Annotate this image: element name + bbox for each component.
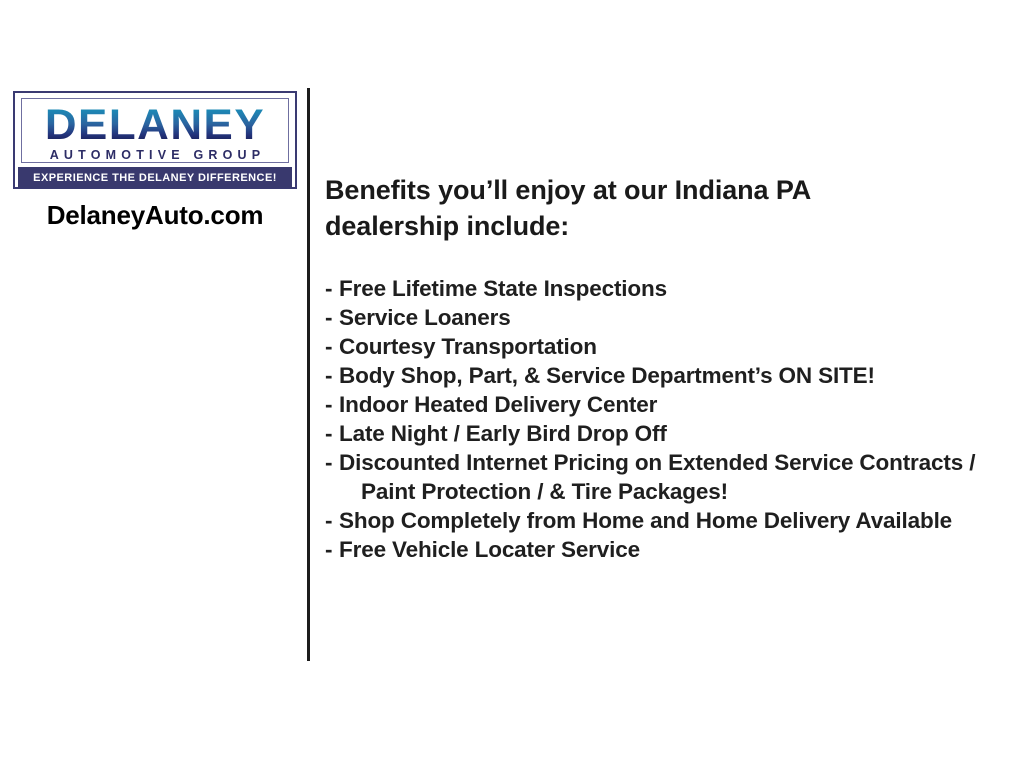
list-item-label: Body Shop, Part, & Service Department’s … (339, 363, 875, 388)
slide-canvas: DELANEY AUTOMOTIVE GROUP EXPERIENCE THE … (0, 0, 1024, 768)
list-item: -Free Lifetime State Inspections (325, 274, 1011, 303)
list-item-label: Free Lifetime State Inspections (339, 276, 667, 301)
logo-column: DELANEY AUTOMOTIVE GROUP EXPERIENCE THE … (0, 0, 307, 768)
vertical-divider (307, 88, 310, 661)
delaney-logo: DELANEY AUTOMOTIVE GROUP EXPERIENCE THE … (13, 91, 297, 189)
list-item: -Body Shop, Part, & Service Department’s… (325, 361, 1011, 390)
bullet-dash: - (325, 535, 339, 564)
logo-inner-frame: DELANEY AUTOMOTIVE GROUP (19, 96, 291, 165)
bullet-dash: - (325, 506, 339, 535)
list-item: -Indoor Heated Delivery Center (325, 390, 1011, 419)
bullet-dash: - (325, 303, 339, 332)
list-item: -Late Night / Early Bird Drop Off (325, 419, 1011, 448)
page-title: Benefits you’ll enjoy at our Indiana PA … (325, 172, 865, 244)
bullet-dash: - (325, 332, 339, 361)
bullet-dash: - (325, 419, 339, 448)
list-item-label: Free Vehicle Locater Service (339, 537, 640, 562)
list-item: -Shop Completely from Home and Home Deli… (325, 506, 1011, 535)
list-item: -Courtesy Transportation (325, 332, 1011, 361)
list-item: -Free Vehicle Locater Service (325, 535, 1011, 564)
content-column: Benefits you’ll enjoy at our Indiana PA … (325, 172, 1011, 564)
list-item: -Discounted Internet Pricing on Extended… (325, 448, 1011, 506)
benefits-list: -Free Lifetime State Inspections-Service… (325, 274, 1011, 564)
bullet-dash: - (325, 274, 339, 303)
list-item-label: Late Night / Early Bird Drop Off (339, 421, 667, 446)
list-item-label: Service Loaners (339, 305, 511, 330)
logo-tagline-banner: EXPERIENCE THE DELANEY DIFFERENCE! (18, 167, 292, 188)
logo-wordmark: DELANEY (45, 100, 265, 150)
website-url: DelaneyAuto.com (13, 199, 297, 231)
bullet-dash: - (325, 390, 339, 419)
list-item-continuation: Paint Protection / & Tire Packages! (339, 477, 1011, 506)
list-item-label: Discounted Internet Pricing on Extended … (339, 450, 975, 475)
list-item: -Service Loaners (325, 303, 1011, 332)
logo-tagline-text: EXPERIENCE THE DELANEY DIFFERENCE! (33, 172, 277, 184)
bullet-dash: - (325, 448, 339, 477)
list-item-label: Courtesy Transportation (339, 334, 597, 359)
list-item-label: Indoor Heated Delivery Center (339, 392, 657, 417)
logo-subline: AUTOMOTIVE GROUP (45, 148, 266, 163)
bullet-dash: - (325, 361, 339, 390)
list-item-label: Shop Completely from Home and Home Deliv… (339, 508, 952, 533)
